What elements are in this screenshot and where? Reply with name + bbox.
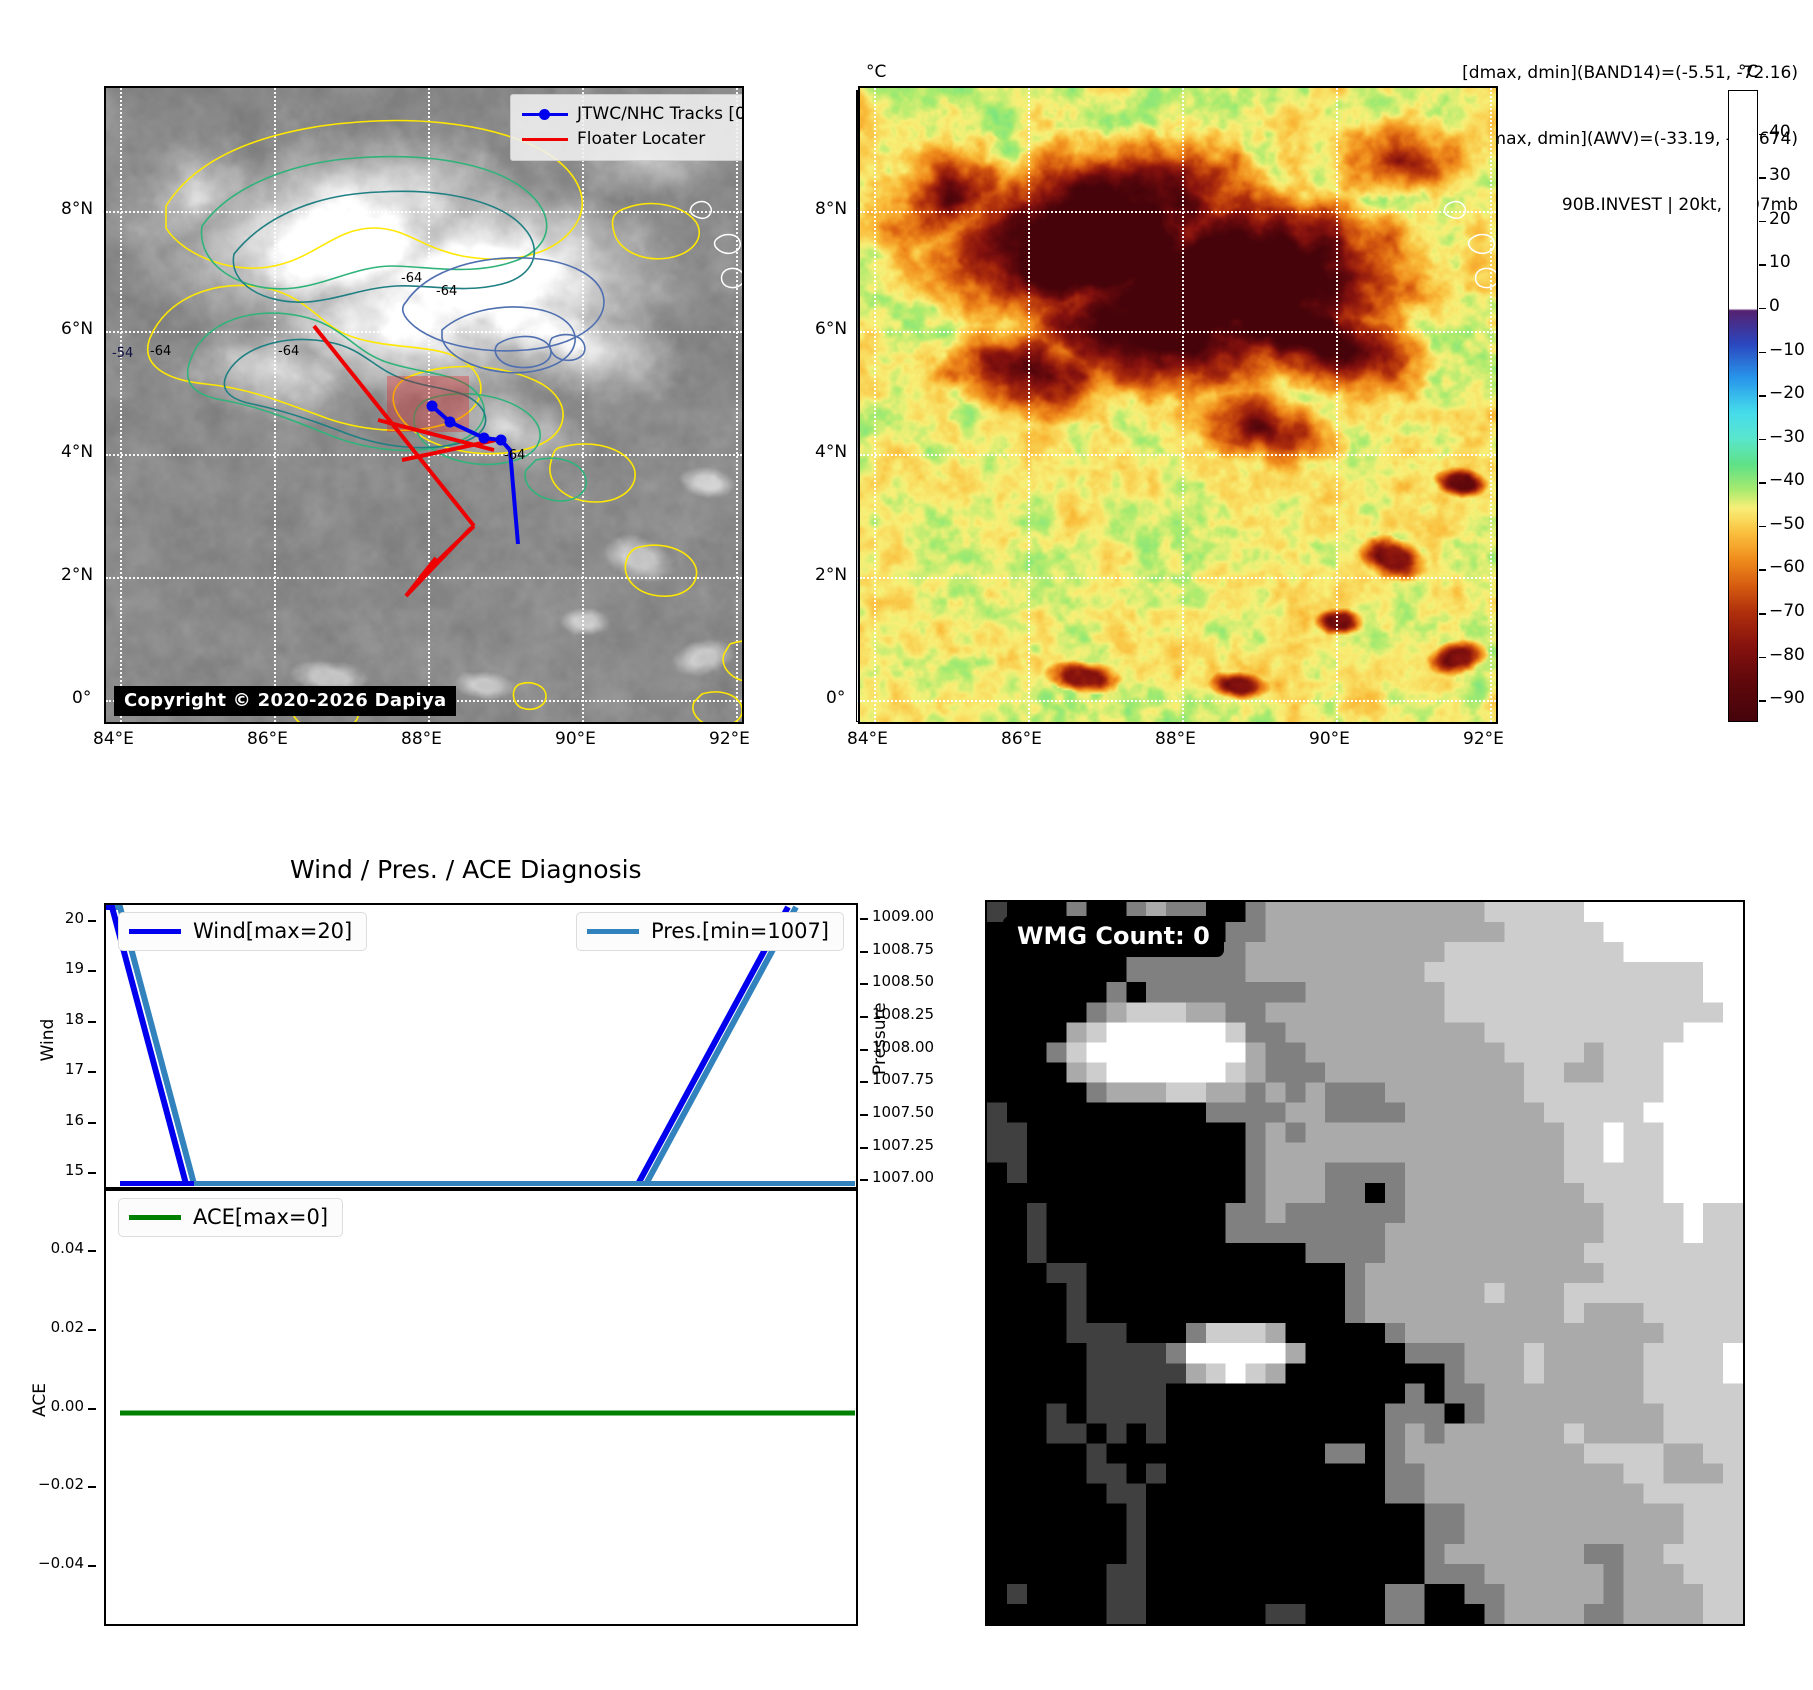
chart-y-tick-label: 1007.50 xyxy=(872,1103,934,1121)
chart-y-tick-mark xyxy=(860,1016,868,1018)
diagnosis-title: Wind / Pres. / ACE Diagnosis xyxy=(290,855,642,884)
colorbar-tick-label: −20 xyxy=(1769,383,1805,403)
colorbar-tick-label: 20 xyxy=(1769,209,1791,229)
colorbar-tick-mark xyxy=(1759,264,1766,266)
chart-y-tick-mark xyxy=(860,918,868,920)
colorbar-tick-mark xyxy=(1759,526,1766,528)
wmg-map[interactable]: WMG Count: 0 xyxy=(985,900,1745,1626)
colorbar-tick-mark xyxy=(1759,613,1766,615)
awv-colorbar xyxy=(1728,90,1758,722)
contour-label-5: -64 xyxy=(436,284,457,299)
awv-lat-tick-4n: 4°N xyxy=(815,442,847,462)
colorbar-tick-mark xyxy=(1759,134,1766,136)
awv-lon-tick-86e: 86°E xyxy=(1001,729,1042,749)
wmg-image xyxy=(987,902,1743,1624)
chart-y-tick-mark xyxy=(88,1486,96,1488)
copyright-banner: Copyright © 2020-2026 Dapiya xyxy=(114,686,456,716)
chart-y-tick-label: −0.04 xyxy=(0,1554,84,1572)
ir-lat-tick-2n: 2°N xyxy=(61,565,93,585)
ir-lon-tick-88e: 88°E xyxy=(401,729,442,749)
wind-legend-label: Wind[max=20] xyxy=(193,919,352,943)
colorbar-tick-label: 0 xyxy=(1769,296,1780,316)
colorbar-tick-label: −90 xyxy=(1769,688,1805,708)
chart-y-tick-mark xyxy=(860,1147,868,1149)
colorbar-tick-label: −50 xyxy=(1769,514,1805,534)
ace-axis-label: ACE xyxy=(30,1370,50,1430)
pressure-legend[interactable]: Pres.[min=1007] xyxy=(576,912,844,951)
ir-lat-tick-0: 0° xyxy=(72,688,91,708)
awv-map[interactable] xyxy=(858,86,1498,724)
wmg-count-banner: WMG Count: 0 xyxy=(1003,916,1224,957)
contour-label-6: -64 xyxy=(504,448,525,463)
legend-item-floater[interactable]: Floater Locater xyxy=(522,127,744,152)
chart-y-tick-mark xyxy=(88,1408,96,1410)
awv-lon-tick-92e: 92°E xyxy=(1463,729,1504,749)
ir-lon-tick-86e: 86°E xyxy=(247,729,288,749)
contour-label-4: -64 xyxy=(401,271,422,286)
awv-lat-tick-6n: 6°N xyxy=(815,319,847,339)
chart-y-tick-label: 16 xyxy=(0,1111,84,1129)
chart-y-tick-label: 1008.75 xyxy=(872,940,934,958)
chart-y-tick-mark xyxy=(88,1122,96,1124)
contour-label-3: -64 xyxy=(278,344,299,359)
legend-label-tracks: JTWC/NHC Tracks [05/1200Z] xyxy=(577,102,744,127)
colorbar-tick-mark xyxy=(1759,657,1766,659)
ir-image xyxy=(106,88,742,722)
chart-y-tick-mark xyxy=(88,970,96,972)
legend-label-floater: Floater Locater xyxy=(577,127,705,152)
ir-legend[interactable]: JTWC/NHC Tracks [05/1200Z] Floater Locat… xyxy=(510,94,744,161)
ace-plot xyxy=(106,1191,855,1623)
wind-axis-label: Wind xyxy=(38,1010,58,1070)
track-line-marker-icon xyxy=(522,113,568,116)
awv-lat-tick-2n: 2°N xyxy=(815,565,847,585)
legend-item-tracks[interactable]: JTWC/NHC Tracks [05/1200Z] xyxy=(522,102,744,127)
chart-y-tick-mark xyxy=(88,920,96,922)
contour-label-2: -64 xyxy=(150,344,171,359)
pressure-legend-label: Pres.[min=1007] xyxy=(651,919,829,943)
awv-lon-tick-88e: 88°E xyxy=(1155,729,1196,749)
colorbar-tick-label: −10 xyxy=(1769,340,1805,360)
colorbar-tick-mark xyxy=(1759,221,1766,223)
chart-y-tick-mark xyxy=(860,1114,868,1116)
colorbar-tick-mark xyxy=(1759,308,1766,310)
wind-pressure-chart[interactable]: Wind[max=20] Pres.[min=1007] xyxy=(104,903,858,1189)
chart-y-tick-mark xyxy=(860,1049,868,1051)
ir-lat-tick-6n: 6°N xyxy=(61,319,93,339)
wind-legend[interactable]: Wind[max=20] xyxy=(118,912,367,951)
colorbar-tick-mark xyxy=(1759,439,1766,441)
chart-y-tick-label: 1009.00 xyxy=(872,907,934,925)
chart-y-tick-label: 1007.25 xyxy=(872,1136,934,1154)
ace-legend-label: ACE[max=0] xyxy=(193,1205,328,1229)
chart-y-tick-label: 20 xyxy=(0,909,84,927)
chart-y-tick-mark xyxy=(88,1071,96,1073)
colorbar-tick-mark xyxy=(1759,700,1766,702)
colorbar-tick-label: 40 xyxy=(1769,122,1791,142)
colorbar-tick-label: 30 xyxy=(1769,165,1791,185)
ir-lon-tick-90e: 90°E xyxy=(555,729,596,749)
pressure-line-icon xyxy=(587,929,639,934)
chart-y-tick-mark xyxy=(860,1081,868,1083)
locater-line-icon xyxy=(522,138,568,141)
colorbar-tick-label: −70 xyxy=(1769,601,1805,621)
chart-y-tick-mark xyxy=(88,1172,96,1174)
chart-y-tick-mark xyxy=(860,983,868,985)
chart-y-tick-mark xyxy=(860,1179,868,1181)
ir-floater-map[interactable]: -54 -64 -64 -64 -64 -64 JTWC/NHC Tracks … xyxy=(104,86,744,724)
contour-label-1: -54 xyxy=(112,346,133,361)
ir-lon-tick-84e: 84°E xyxy=(93,729,134,749)
ace-legend[interactable]: ACE[max=0] xyxy=(118,1198,343,1237)
awv-colorbar-unit: °C xyxy=(1738,62,1758,82)
pressure-axis-label: Pressure xyxy=(870,1005,890,1075)
colorbar-tick-mark xyxy=(1759,569,1766,571)
colorbar-tick-mark xyxy=(1759,352,1766,354)
awv-lon-tick-84e: 84°E xyxy=(847,729,888,749)
colorbar-tick-label: 10 xyxy=(1769,252,1791,272)
chart-y-tick-label: 1007.00 xyxy=(872,1168,934,1186)
chart-y-tick-mark xyxy=(88,1565,96,1567)
colorbar-tick-mark xyxy=(1759,395,1766,397)
colorbar-tick-label: −40 xyxy=(1769,470,1805,490)
chart-y-tick-label: 0.04 xyxy=(0,1239,84,1257)
chart-y-tick-mark xyxy=(88,1021,96,1023)
chart-y-tick-mark xyxy=(88,1329,96,1331)
ace-chart[interactable]: ACE[max=0] xyxy=(104,1189,858,1626)
awv-lon-tick-90e: 90°E xyxy=(1309,729,1350,749)
colorbar-tick-mark xyxy=(1759,482,1766,484)
awv-image xyxy=(860,88,1496,722)
colorbar-tick-label: −30 xyxy=(1769,427,1805,447)
wind-line-icon xyxy=(129,929,181,934)
ir-colorbar-unit: °C xyxy=(866,62,886,82)
chart-y-tick-label: −0.02 xyxy=(0,1475,84,1493)
dashboard-root: FY-4B BAND13-DIAS FLOATER Time: 2026/01/… xyxy=(0,0,1813,1690)
chart-y-tick-label: 0.02 xyxy=(0,1318,84,1336)
colorbar-tick-label: −60 xyxy=(1769,557,1805,577)
chart-y-tick-label: 1008.50 xyxy=(872,972,934,990)
chart-y-tick-mark xyxy=(88,1250,96,1252)
chart-y-tick-label: 15 xyxy=(0,1161,84,1179)
ir-lat-tick-8n: 8°N xyxy=(61,199,93,219)
chart-y-tick-label: 19 xyxy=(0,959,84,977)
ir-lon-tick-92e: 92°E xyxy=(709,729,750,749)
chart-y-tick-mark xyxy=(860,951,868,953)
ace-line-icon xyxy=(129,1215,181,1220)
colorbar-tick-label: −80 xyxy=(1769,645,1805,665)
colorbar-tick-mark xyxy=(1759,177,1766,179)
ir-lat-tick-4n: 4°N xyxy=(61,442,93,462)
awv-lat-tick-8n: 8°N xyxy=(815,199,847,219)
awv-lat-tick-0: 0° xyxy=(826,688,845,708)
